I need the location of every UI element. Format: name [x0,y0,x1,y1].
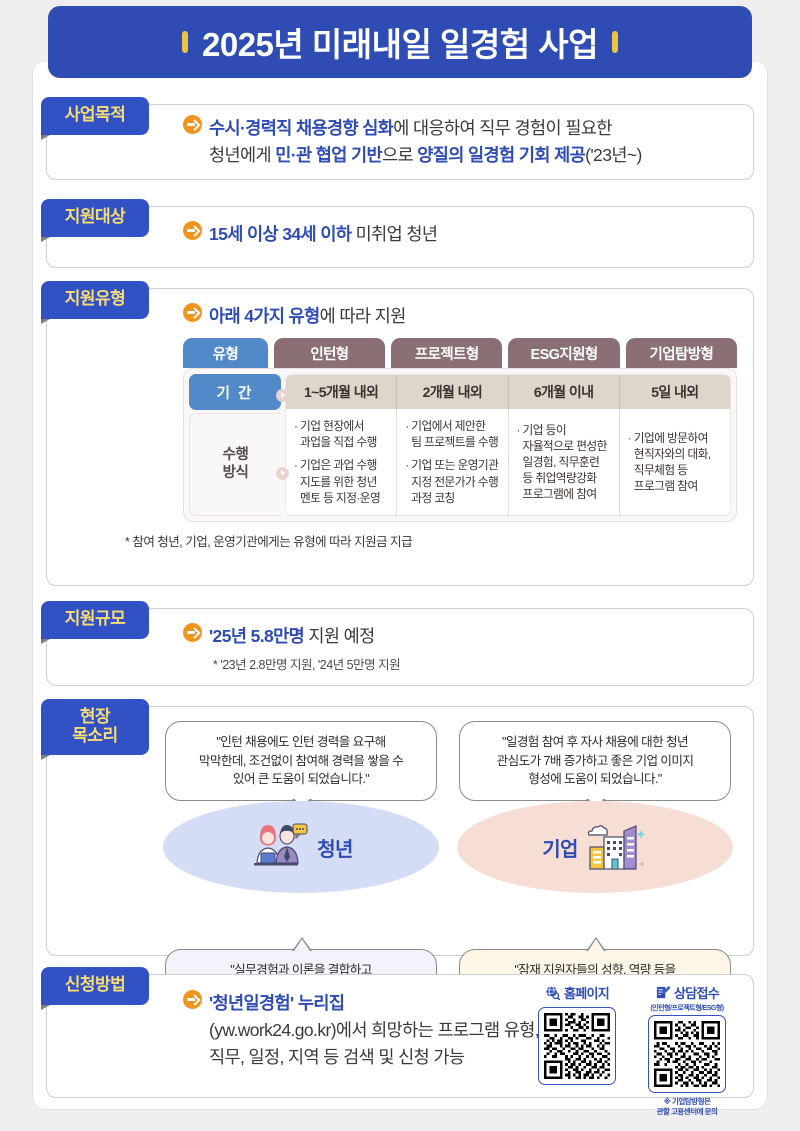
voices-body: "인턴 채용에도 인턴 경력을 요구해 막막한데, 조건없이 참여해 경력을 쌓… [47,711,753,973]
section-scale: 지원규모 '25년 5.8만명 지원 예정 * '23년 2.8만명 지원, '… [46,608,754,686]
types-table-body: 기 간 수행 방식 1~5개월 내외 2개월 내외 6개월 이내 5일 내외 [183,368,737,522]
row-duration: 1~5개월 내외 2개월 내외 6개월 이내 5일 내외 [286,375,730,409]
duration-project: 2개월 내외 [397,375,508,409]
youth-people-icon [249,821,309,873]
target-bold: 15세 이상 34세 이하 [209,224,351,244]
page-banner: 2025년 미래내일 일경험 사업 [48,6,752,78]
types-row-labels: 기 간 수행 방식 [189,374,281,516]
scale-line: '25년 5.8만명 지원 예정 [183,623,737,650]
method-bullet: · 기업 현장에서 과업을 직접 수행 [294,419,389,451]
purpose-bold-1: 수시·경력직 채용경향 심화 [209,118,393,138]
qr-consult-title: 상담접수 [674,983,719,1002]
types-table-head: 유형 인턴형 프로젝트형 ESG지원형 기업탐방형 [183,338,737,368]
types-bold: 아래 4가지 유형 [209,306,320,326]
qr-consult-footnote: ※ 기업탐방형은 관할 고용센터에 문의 [639,1097,735,1117]
duration-visit: 5일 내외 [620,375,730,409]
infographic-page: 2025년 미래내일 일경험 사업 사업목적 수시·경력직 채용경향 심화에 대… [0,0,800,1131]
tick-right-icon [612,31,618,53]
qr-homepage-title: 홈페이지 [564,983,609,1002]
youth-label: 청년 [317,833,353,862]
target-line: 15세 이상 34세 이하 미취업 청년 [183,221,737,248]
scale-rest: 지원 예정 [304,626,375,646]
arrow-circle-icon [183,990,202,1009]
purpose-superscript: ('23년~) [585,145,642,165]
corp-label: 기업 [542,833,578,862]
duration-esg: 6개월 이내 [509,375,620,409]
method-bullet: · 기업에서 제안한 팀 프로젝트를 수행 [405,419,500,451]
corp-building-icon [586,821,648,873]
method-esg: · 기업 등이 자율적으로 편성한 일경험, 직무훈련 등 취업역량강화 프로그… [509,409,620,515]
qr-code-image [654,1021,720,1087]
corp-badge: 기업 [457,801,733,893]
tick-left-icon [182,31,188,53]
arrow-circle-icon [183,115,202,134]
youth-badge: 청년 [163,801,439,893]
page-title: 2025년 미래내일 일경험 사업 [202,18,598,66]
scale-bold: '25년 5.8만명 [209,626,304,646]
target-rest: 미취업 청년 [351,224,437,244]
section-label-types: 지원유형 [41,281,149,319]
qr-consult[interactable]: 상담접수 (인턴형/프로젝트형/ESG형) [639,983,735,1117]
qr-consult-code[interactable] [648,1015,726,1093]
method-bullet: · 기업 등이 자율적으로 편성한 일경험, 직무훈련 등 취업역량강화 프로그… [517,423,612,504]
section-types: 지원유형 아래 4가지 유형에 따라 지원 유형 인턴형 프로젝트형 ESG지원… [46,288,754,586]
section-label-apply: 신청방법 [41,967,149,1005]
section-label-scale: 지원규모 [41,601,149,639]
row-method: · 기업 현장에서 과업을 직접 수행 · 기업은 과업 수행 지도를 위한 청… [286,409,730,515]
row-label-method: 수행 방식 [189,413,281,516]
pen-document-icon [655,985,670,1000]
method-bullet: · 기업 또는 운영기관 지정 전문가가 수행 과정 코칭 [405,458,500,506]
types-footnote: * 참여 청년, 기업, 운영기관에게는 유형에 따라 지원금 지급 [123,531,737,550]
qr-code-image [544,1013,610,1079]
th-type-visit: 기업탐방형 [626,338,737,368]
purpose-line-1: 수시·경력직 채용경향 심화에 대응하여 직무 경험이 필요한 [183,115,737,142]
method-project: · 기업에서 제안한 팀 프로젝트를 수행 · 기업 또는 운영기관 지정 전문… [397,409,508,515]
method-bullet: · 기업은 과업 수행 지도를 위한 청년 멘토 등 지정·운영 [294,458,389,506]
th-type-project: 프로젝트형 [391,338,502,368]
method-visit: · 기업에 방문하여 현직자와의 대화, 직무체험 등 프로그램 참여 [620,409,730,515]
purpose-text-2a: 청년에게 [209,145,275,165]
scale-note: * '23년 2.8만명 지원, '24년 5만명 지원 [183,654,737,673]
th-type-intern: 인턴형 [274,338,385,368]
types-table: 유형 인턴형 프로젝트형 ESG지원형 기업탐방형 기 간 수행 방식 [109,338,737,550]
purpose-line-2: 청년에게 민·관 협업 기반으로 양질의 일경험 기회 제공('23년~) [183,142,737,169]
types-rest: 에 따라 지원 [320,306,406,326]
section-purpose: 사업목적 수시·경력직 채용경향 심화에 대응하여 직무 경험이 필요한 청년에… [46,104,754,180]
corp-quote-top: "일경험 참여 후 자사 채용에 대한 청년 관심도가 7배 증가하고 좋은 기… [459,721,731,801]
qr-zone: 홈페이지 [529,983,735,1117]
arrow-circle-icon [183,623,202,642]
th-type-esg: ESG지원형 [508,338,619,368]
qr-consult-subtitle: (인턴형/프로젝트형/ESG형) [639,1003,735,1013]
qr-homepage[interactable]: 홈페이지 [529,983,625,1117]
purpose-bold-2a: 민·관 협업 기반 [275,145,382,165]
qr-homepage-code[interactable] [538,1007,616,1085]
th-type-col: 유형 [183,338,268,368]
apply-bold: '청년일경험' 누리집 [209,990,344,1017]
bubble-tail-icon [292,937,312,951]
purpose-rest-1: 에 대응하여 직무 경험이 필요한 [393,118,612,138]
section-target: 지원대상 15세 이상 34세 이하 미취업 청년 [46,206,754,268]
purpose-text-2b: 으로 [382,145,417,165]
arrow-circle-icon [183,303,202,322]
types-grid: 1~5개월 내외 2개월 내외 6개월 이내 5일 내외 · 기업 현장에서 과… [285,374,731,516]
method-intern: · 기업 현장에서 과업을 직접 수행 · 기업은 과업 수행 지도를 위한 청… [286,409,397,515]
duration-intern: 1~5개월 내외 [286,375,397,409]
section-apply: 신청방법 홈페이지 [46,974,754,1098]
purpose-bold-2b: 양질의 일경험 기회 제공 [417,145,585,165]
arrow-circle-icon [183,221,202,240]
types-line: 아래 4가지 유형에 따라 지원 [183,303,737,330]
globe-icon [545,985,560,1000]
section-label-target: 지원대상 [41,199,149,237]
row-label-duration: 기 간 [189,374,281,410]
bubble-tail-icon [586,937,606,951]
section-label-voices: 현장 목소리 [41,699,149,755]
method-bullet: · 기업에 방문하여 현직자와의 대화, 직무체험 등 프로그램 참여 [628,431,723,496]
youth-quote-top: "인턴 채용에도 인턴 경력을 요구해 막막한데, 조건없이 참여해 경력을 쌓… [165,721,437,801]
section-label-purpose: 사업목적 [41,97,149,135]
section-voices: 현장 목소리 "인턴 채용에도 인턴 경력을 요구해 막막한데, 조건없이 참여… [46,706,754,956]
